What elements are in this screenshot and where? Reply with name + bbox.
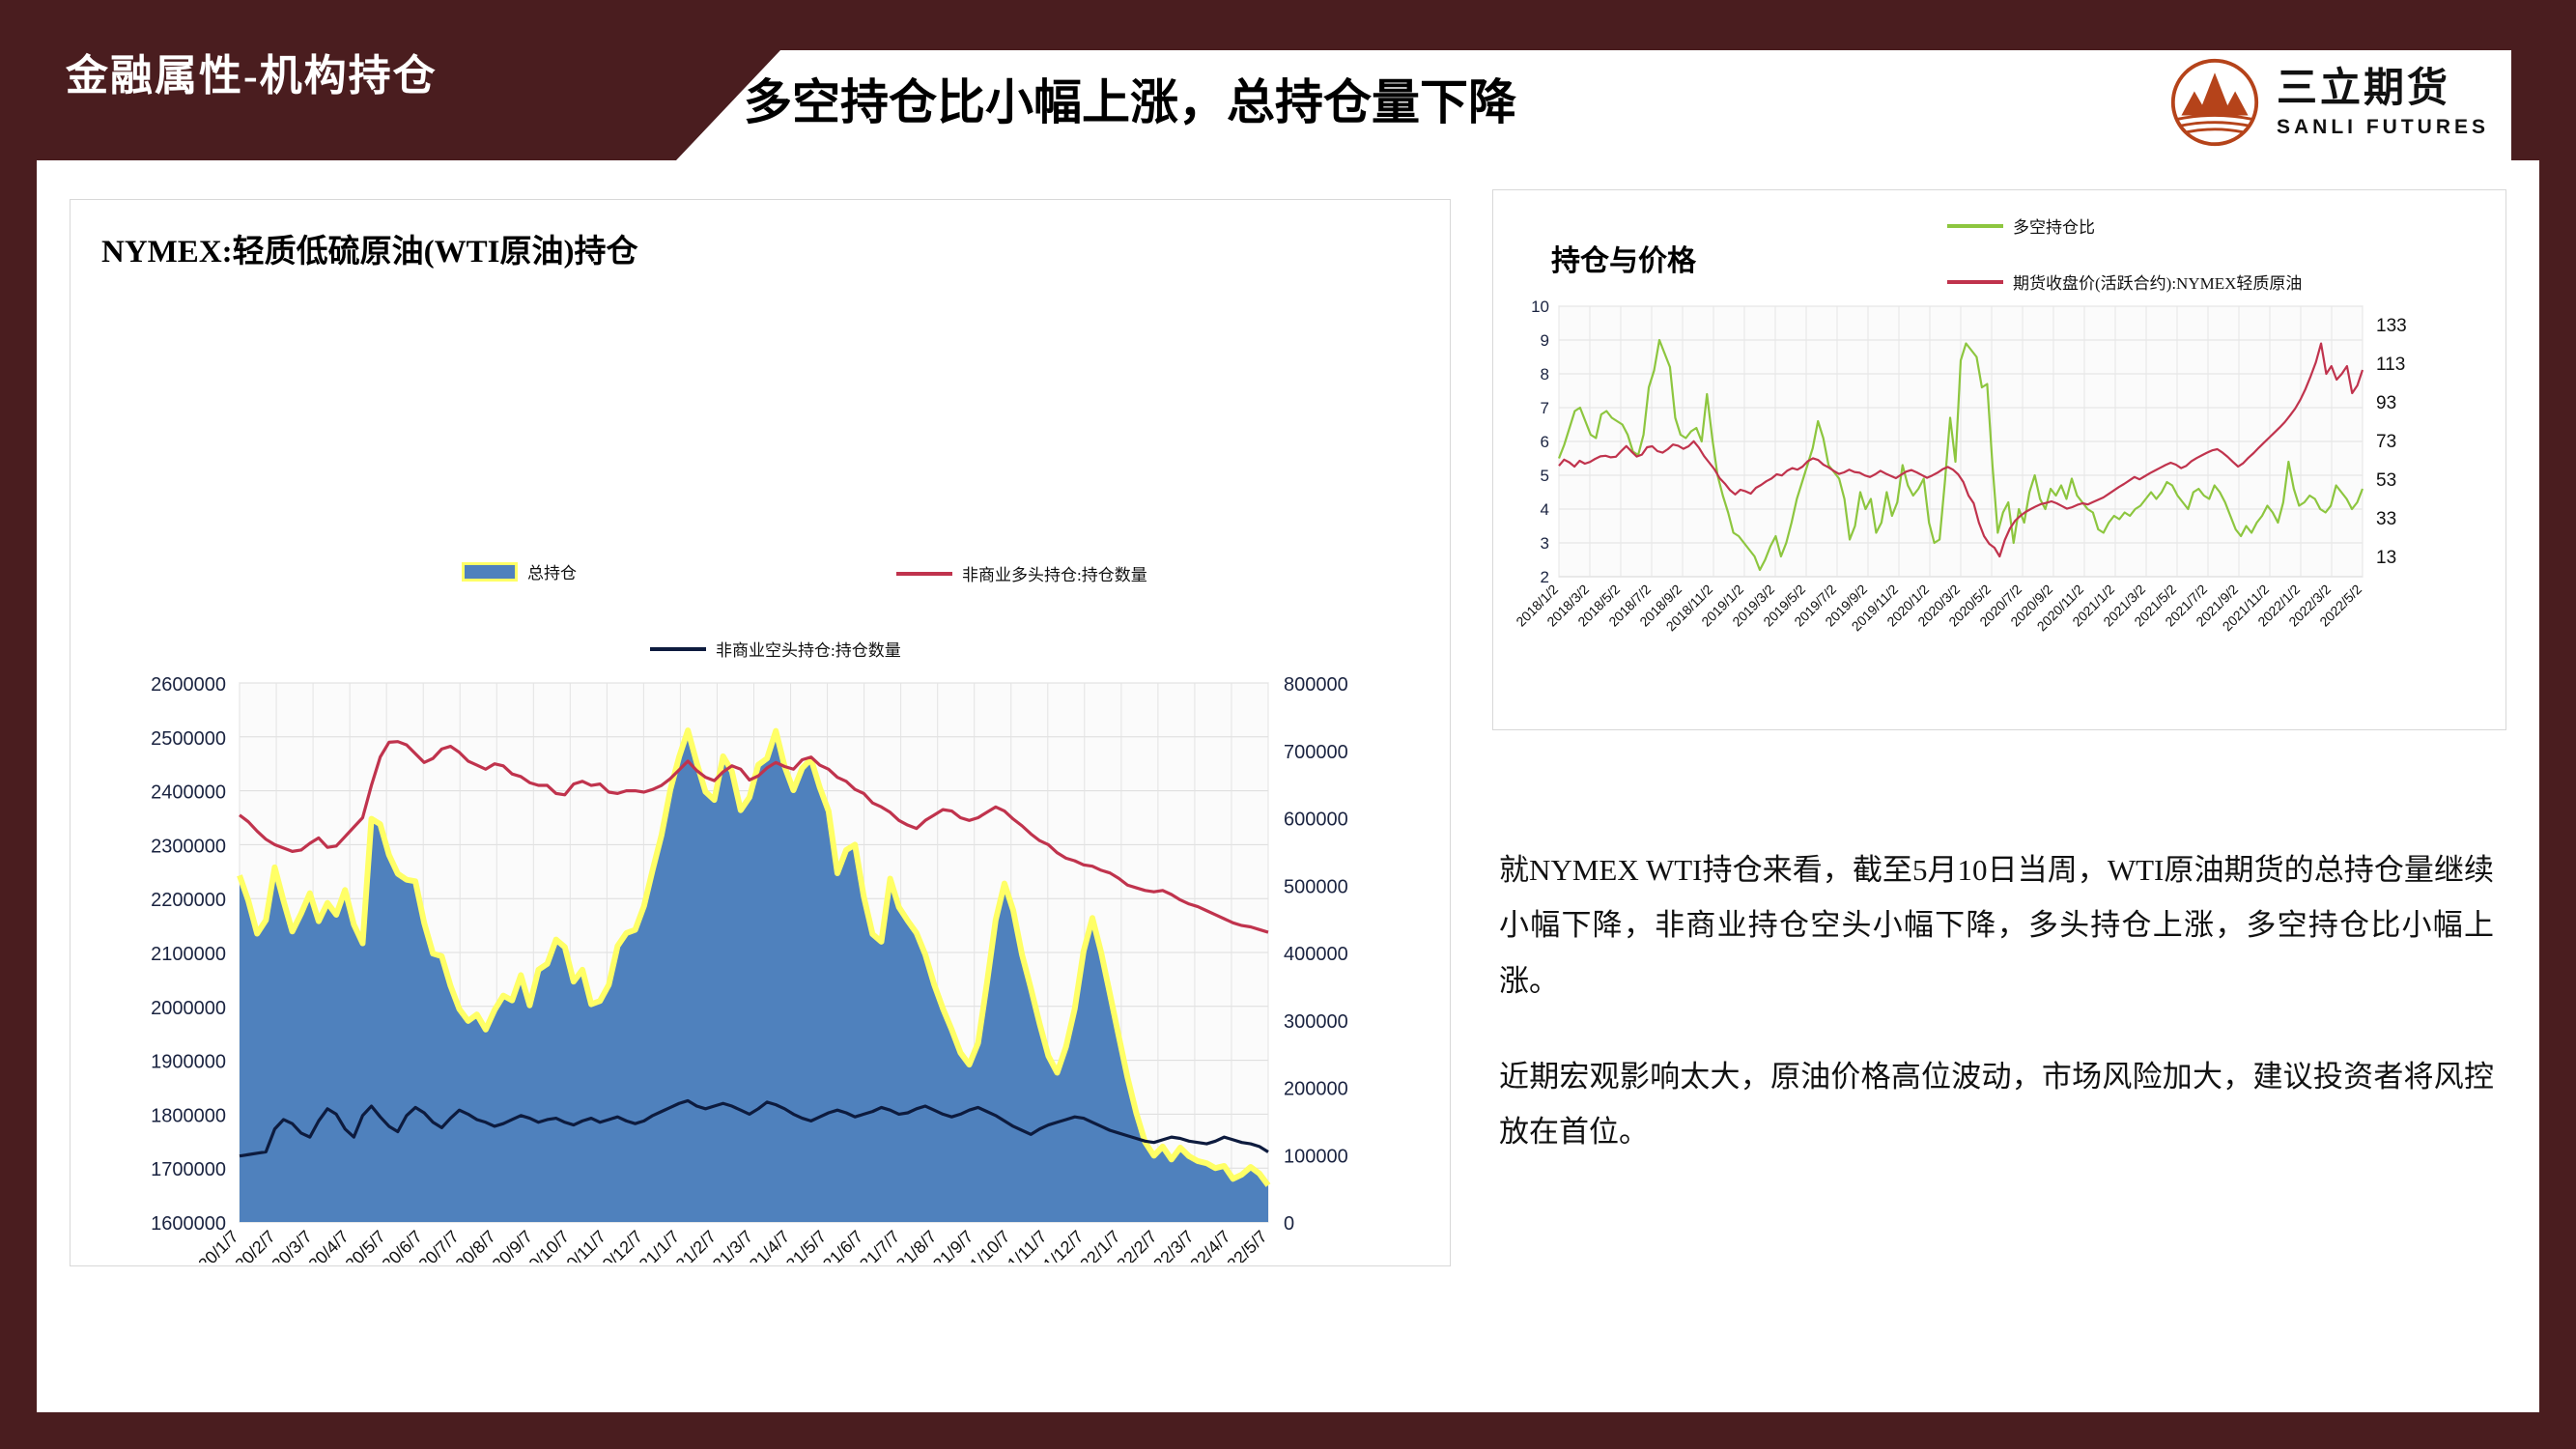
svg-text:800000: 800000: [1284, 674, 1348, 696]
svg-text:4: 4: [1541, 500, 1549, 519]
nymex-positions-chart: 1600000170000018000001900000200000021000…: [71, 200, 1450, 1263]
commentary-paragraph-1: 就NYMEX WTI持仓来看，截至5月10日当周，WTI原油期货的总持仓量继续小…: [1499, 842, 2494, 1009]
svg-text:5: 5: [1541, 467, 1549, 485]
svg-text:10: 10: [1531, 298, 1549, 316]
svg-text:2500000: 2500000: [151, 728, 226, 750]
svg-text:2300000: 2300000: [151, 836, 226, 857]
svg-text:300000: 300000: [1284, 1011, 1348, 1033]
svg-text:6: 6: [1541, 433, 1549, 451]
header-bar: 金融属性-机构持仓 多空持仓比小幅上涨，总持仓量下降 三立期货 SANLI FU…: [0, 0, 2576, 160]
page-title: 多空持仓比小幅上涨，总持仓量下降: [744, 64, 1516, 133]
commentary-block: 就NYMEX WTI持仓来看，截至5月10日当周，WTI原油期货的总持仓量继续小…: [1499, 842, 2494, 1201]
mountain-logo-icon: [2168, 56, 2261, 149]
svg-text:400000: 400000: [1284, 944, 1348, 965]
brand-logo: 三立期货 SANLI FUTURES: [2168, 56, 2489, 149]
svg-text:1700000: 1700000: [151, 1159, 226, 1180]
svg-text:33: 33: [2376, 509, 2396, 529]
header-category-tag: 金融属性-机构持仓: [66, 41, 438, 102]
svg-text:2200000: 2200000: [151, 890, 226, 911]
svg-text:1900000: 1900000: [151, 1052, 226, 1073]
commentary-paragraph-2: 近期宏观影响太大，原油价格高位波动，市场风险加大，建议投资者将风控放在首位。: [1499, 1049, 2494, 1160]
svg-text:500000: 500000: [1284, 876, 1348, 897]
svg-text:13: 13: [2376, 548, 2396, 568]
svg-text:7: 7: [1541, 399, 1549, 417]
svg-text:113: 113: [2376, 355, 2405, 375]
svg-text:133: 133: [2376, 316, 2407, 336]
svg-text:2100000: 2100000: [151, 944, 226, 965]
svg-text:2400000: 2400000: [151, 782, 226, 804]
svg-text:200000: 200000: [1284, 1079, 1348, 1100]
slide-root: 金融属性-机构持仓 多空持仓比小幅上涨，总持仓量下降 三立期货 SANLI FU…: [0, 0, 2576, 1449]
svg-text:8: 8: [1541, 365, 1549, 384]
svg-text:9: 9: [1541, 331, 1549, 350]
svg-text:2000000: 2000000: [151, 998, 226, 1019]
svg-text:3: 3: [1541, 534, 1549, 553]
brand-text: 三立期货 SANLI FUTURES: [2277, 69, 2489, 137]
brand-name-en: SANLI FUTURES: [2277, 117, 2489, 137]
svg-text:1600000: 1600000: [151, 1213, 226, 1235]
svg-text:93: 93: [2376, 393, 2396, 413]
svg-text:2600000: 2600000: [151, 674, 226, 696]
svg-text:0: 0: [1284, 1213, 1294, 1235]
brand-name-cn: 三立期货: [2277, 69, 2489, 109]
nymex-positions-card: NYMEX:轻质低硫原油(WTI原油)持仓 总持仓 非商业多头持仓:持仓数量 非…: [70, 199, 1451, 1266]
svg-text:1800000: 1800000: [151, 1105, 226, 1126]
svg-text:100000: 100000: [1284, 1146, 1348, 1167]
positions-price-card: 持仓与价格 多空持仓比 期货收盘价(活跃合约):NYMEX轻质原油 234567…: [1492, 189, 2506, 730]
svg-text:73: 73: [2376, 432, 2396, 452]
svg-text:600000: 600000: [1284, 810, 1348, 831]
positions-price-chart: 234567891013335373931131332018/1/22018/3…: [1493, 190, 2505, 729]
svg-text:700000: 700000: [1284, 742, 1348, 763]
svg-text:53: 53: [2376, 470, 2396, 491]
